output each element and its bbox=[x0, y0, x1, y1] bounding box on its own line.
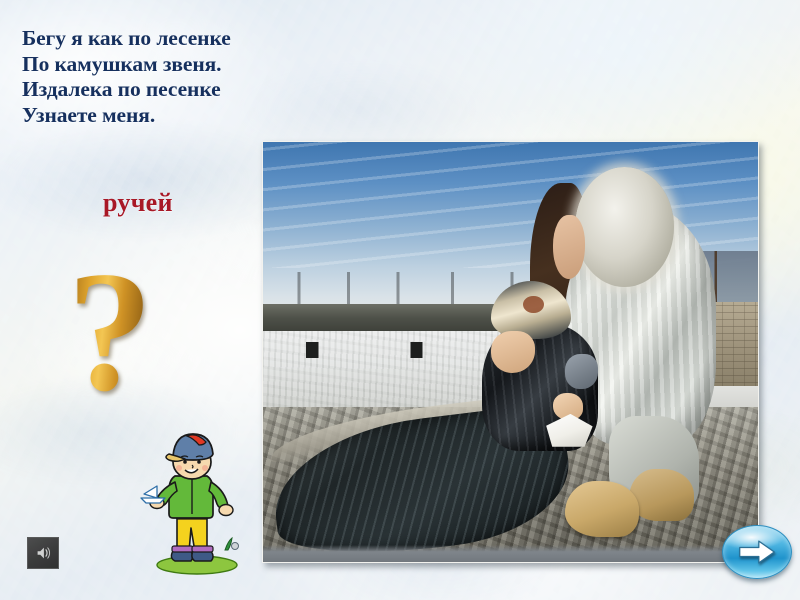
photo-child-mitten bbox=[565, 354, 598, 389]
riddle-line-2: По камушкам звеня. bbox=[22, 52, 284, 78]
photo-bottom-edge bbox=[263, 545, 758, 562]
photo-child bbox=[461, 281, 610, 474]
slide-canvas: Бегу я как по лесенке По камушкам звеня.… bbox=[0, 0, 800, 600]
cartoon-boy-illustration bbox=[133, 424, 249, 576]
riddle-line-4: Узнаете меня. bbox=[22, 103, 284, 129]
photo-woman-boot-front bbox=[565, 481, 639, 537]
answer-word: ручей bbox=[103, 188, 173, 218]
photo-woman-fur-hood bbox=[575, 167, 674, 288]
riddle-line-3: Издалека по песенке bbox=[22, 77, 284, 103]
riddle-line-1: Бегу я как по лесенке bbox=[22, 26, 284, 52]
sound-icon[interactable] bbox=[27, 537, 59, 569]
photo-spring-stream bbox=[262, 141, 759, 563]
riddle-text: Бегу я как по лесенке По камушкам звеня.… bbox=[22, 26, 284, 128]
photo-woman-face bbox=[553, 215, 585, 280]
next-slide-button[interactable] bbox=[722, 525, 792, 579]
question-mark-icon: ? bbox=[55, 262, 165, 402]
